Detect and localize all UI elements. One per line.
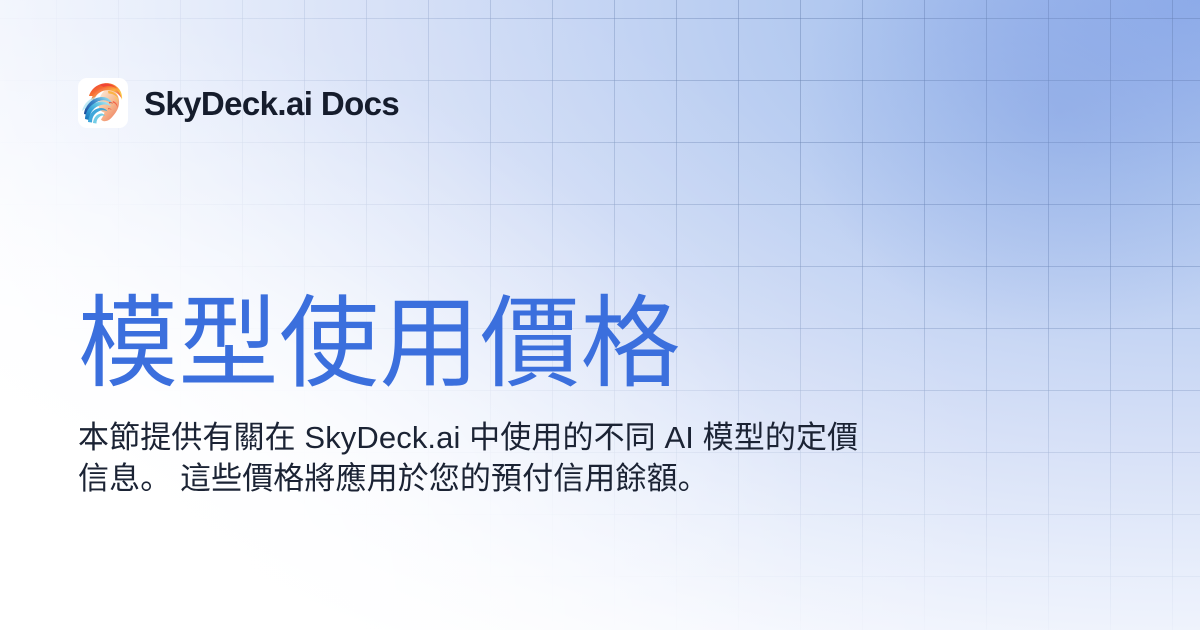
- card-content: 模型使用價格 本節提供有關在 SkyDeck.ai 中使用的不同 AI 模型的定…: [78, 288, 878, 499]
- skydeck-face-wave-logo-icon: [78, 78, 128, 128]
- brand-title: SkyDeck.ai Docs: [144, 87, 399, 120]
- page-description: 本節提供有關在 SkyDeck.ai 中使用的不同 AI 模型的定價信息。 這些…: [78, 418, 868, 499]
- og-card-canvas: SkyDeck.ai Docs 模型使用價格 本節提供有關在 SkyDeck.a…: [0, 0, 1200, 630]
- brand-header[interactable]: SkyDeck.ai Docs: [78, 78, 399, 128]
- page-title: 模型使用價格: [78, 288, 878, 400]
